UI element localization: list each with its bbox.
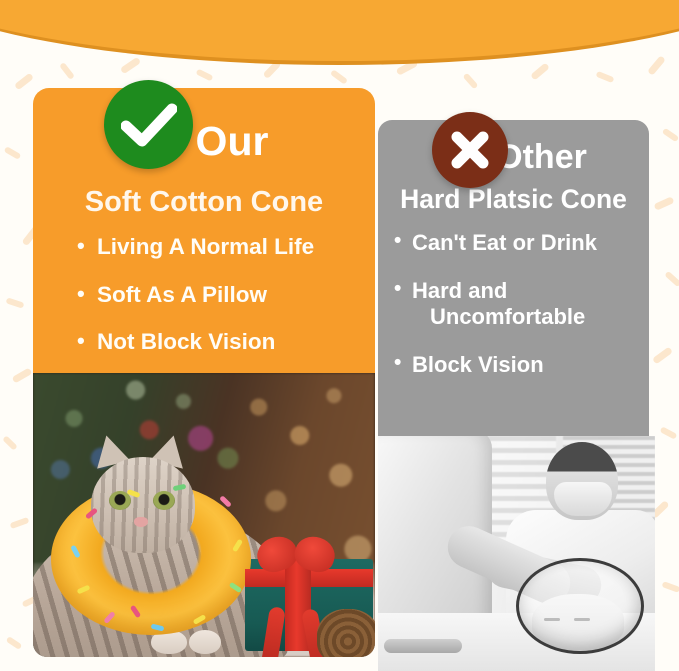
plastic-cone-collar	[516, 558, 644, 654]
cat-head	[91, 457, 195, 553]
metal-tray	[384, 639, 462, 653]
list-item-line1: Block Vision	[412, 352, 544, 377]
our-card: Our Soft Cotton Cone Living A Normal Lif…	[33, 88, 375, 373]
other-product-photo	[378, 436, 655, 671]
list-item: Not Block Vision	[77, 331, 361, 354]
our-label: Our	[196, 121, 269, 162]
list-item-line2: Uncomfortable	[412, 304, 641, 330]
page-title: More Care More Love	[160, 0, 520, 61]
other-label: Other	[496, 140, 587, 174]
other-card-header: Other	[378, 128, 649, 186]
our-card-header: Our	[33, 110, 375, 172]
list-item: Soft As A Pillow	[77, 284, 361, 307]
cat-eye	[153, 491, 175, 510]
list-item: Block Vision	[394, 352, 641, 378]
x-circle-icon	[432, 112, 508, 188]
our-benefits-list: Living A Normal Life Soft As A Pillow No…	[77, 236, 361, 379]
list-item-line1: Hard and	[412, 278, 507, 303]
our-product-photo	[33, 373, 375, 657]
cat-nose	[134, 517, 148, 527]
cat-eye	[109, 491, 131, 510]
our-subtitle: Soft Cotton Cone	[33, 188, 375, 217]
face-mask	[554, 482, 612, 516]
cat-paw	[189, 630, 221, 654]
list-item: Can't Eat or Drink	[394, 230, 641, 256]
list-item-line1: Can't Eat or Drink	[412, 230, 597, 255]
other-subtitle: Hard Platsic Cone	[378, 186, 649, 213]
list-item: Living A Normal Life	[77, 236, 361, 259]
other-card: Other Hard Platsic Cone Can't Eat or Dri…	[378, 120, 649, 436]
other-drawbacks-list: Can't Eat or Drink Hard and Uncomfortabl…	[394, 230, 641, 400]
check-circle-icon	[104, 80, 193, 169]
list-item: Hard and Uncomfortable	[394, 278, 641, 330]
pinecone	[317, 609, 375, 657]
